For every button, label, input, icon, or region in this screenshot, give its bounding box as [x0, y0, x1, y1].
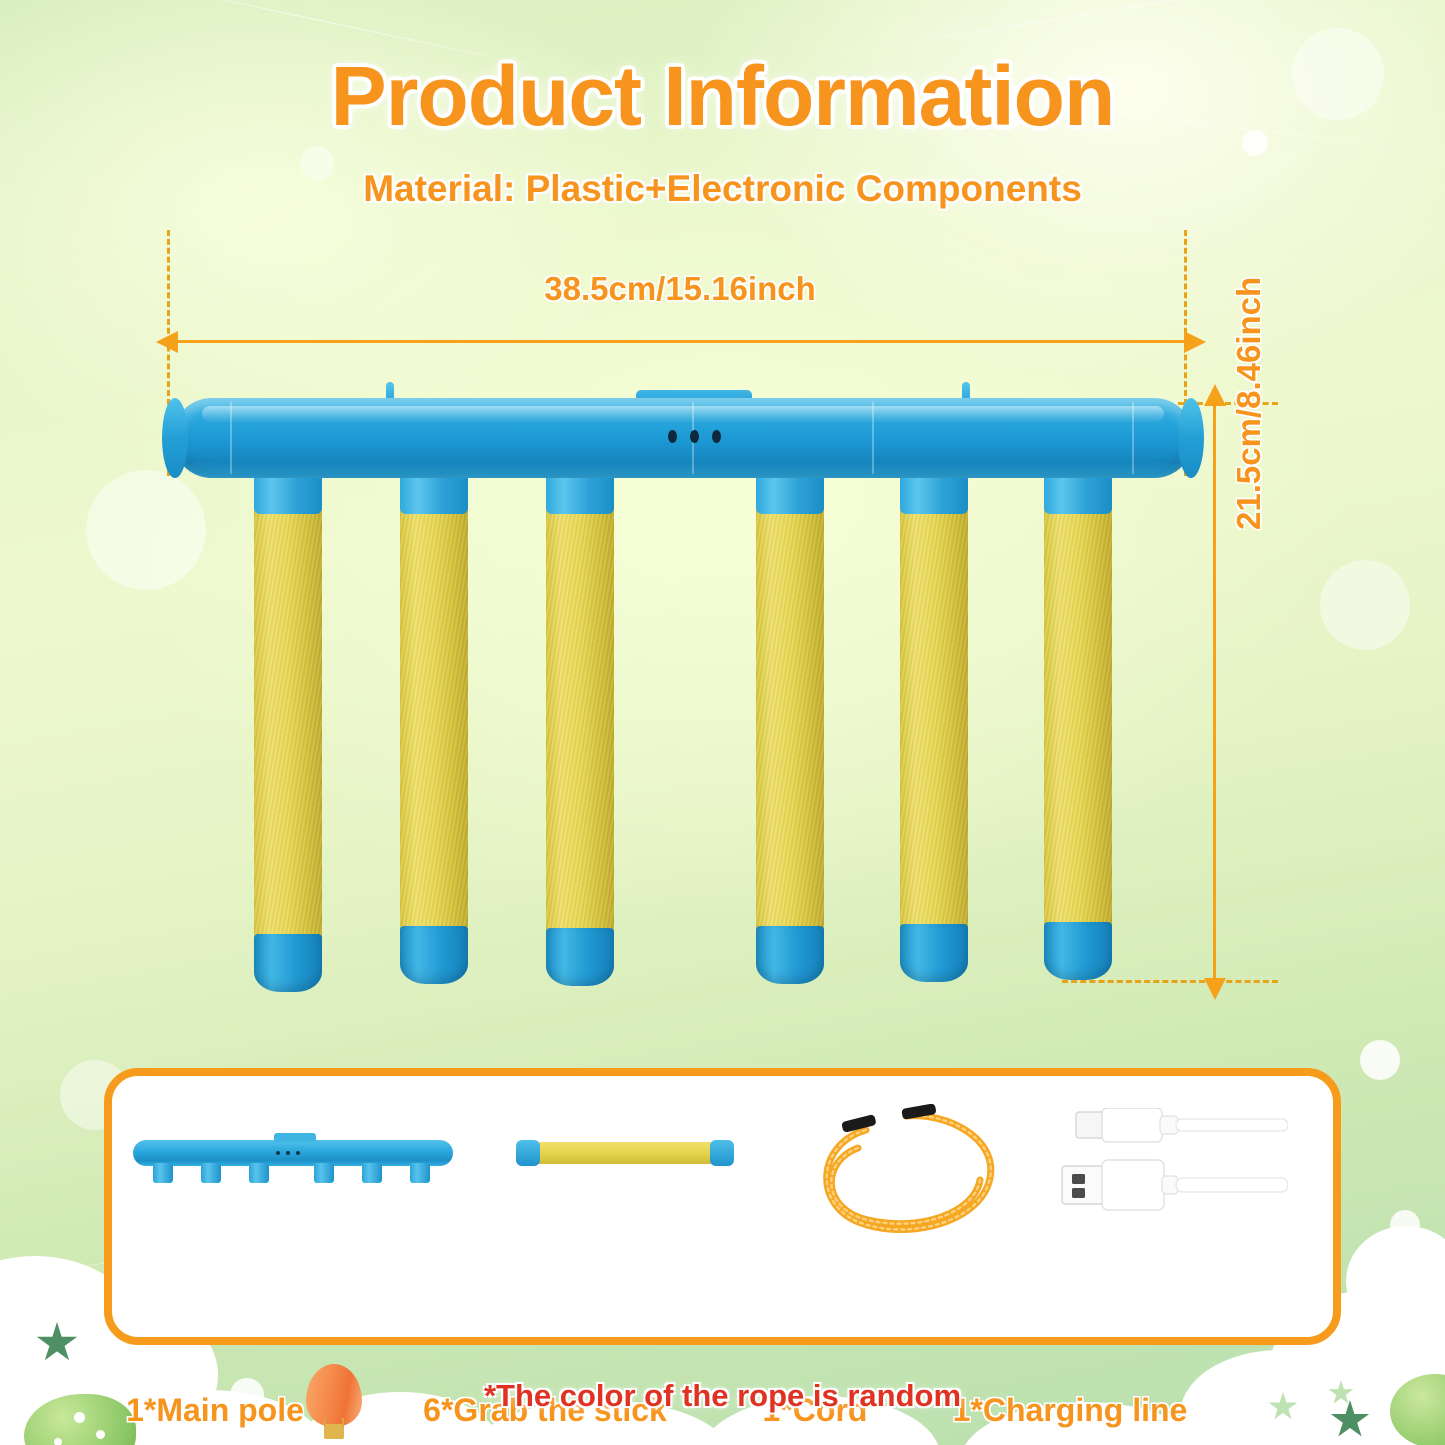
- rope-color-footnote: *The color of the rope is random: [0, 1378, 1445, 1414]
- charging-cable-icon: [1058, 1108, 1288, 1228]
- cord-icon: [806, 1104, 1006, 1249]
- infographic-page: Product Information Material: Plastic+El…: [0, 0, 1445, 1445]
- parts-thumbnails: 1*Main pole 6*Grab the stick 1*Cord 1*Ch…: [0, 0, 1445, 1445]
